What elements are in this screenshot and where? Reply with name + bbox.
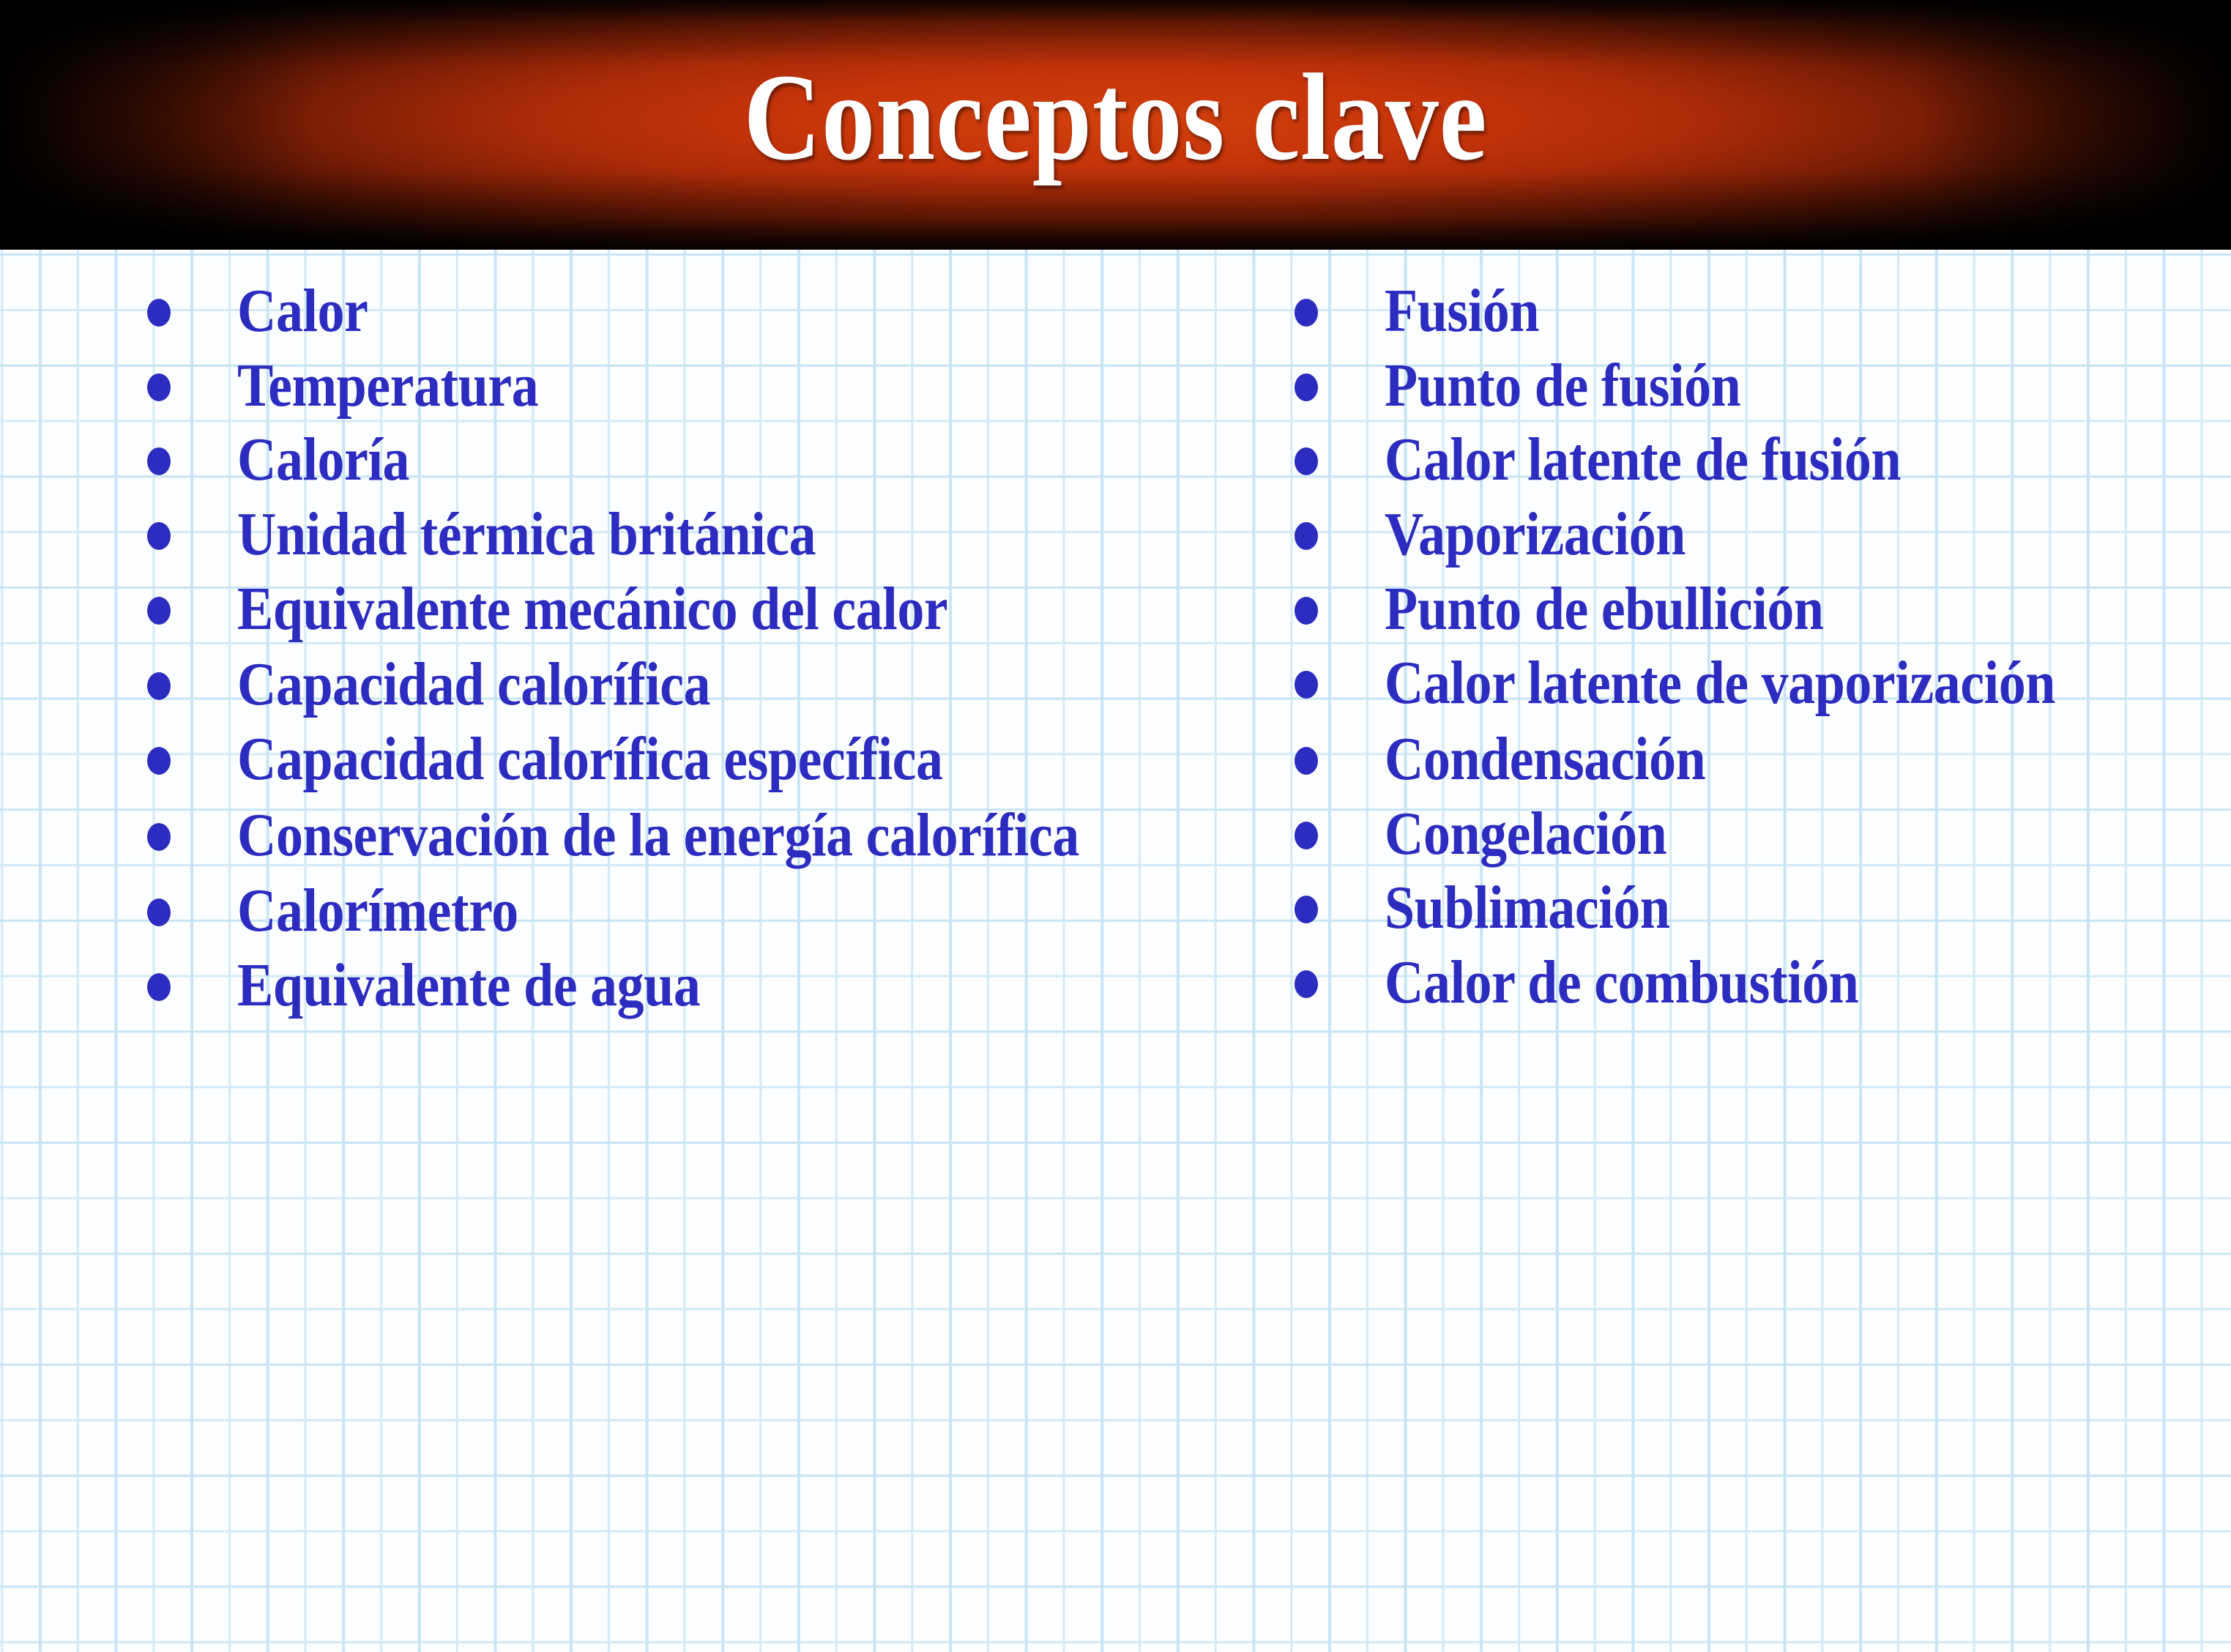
left-column: Calor Temperatura Caloría Unidad térmica…: [135, 250, 1256, 1029]
bullet-dot-icon: [147, 373, 171, 401]
list-item[interactable]: Calor latente de vaporización: [1283, 652, 2227, 715]
page-title: Conceptos clave: [156, 0, 2074, 250]
list-item[interactable]: Fusión: [1283, 280, 2227, 343]
list-item[interactable]: Conservación de la energía calorífica: [135, 804, 1256, 867]
list-item[interactable]: Capacidad calorífica: [135, 653, 1256, 716]
list-item[interactable]: Equivalente mecánico del calor: [135, 578, 1256, 641]
bullet-dot-icon: [1295, 522, 1318, 550]
list-item-label: Unidad térmica británica: [237, 503, 1256, 566]
bullet-dot-icon: [1295, 597, 1318, 625]
list-item[interactable]: Sublimación: [1283, 877, 2227, 940]
list-item-label: Condensación: [1385, 728, 2227, 791]
list-item-label: Calor latente de vaporización: [1385, 652, 2227, 715]
bullet-dot-icon: [1295, 299, 1318, 327]
list-item[interactable]: Calor latente de fusión: [1283, 428, 2227, 491]
bullet-dot-icon: [1295, 970, 1318, 998]
list-item-label: Sublimación: [1385, 877, 2227, 940]
list-item-label: Calor de combustión: [1385, 951, 2227, 1014]
bullet-dot-icon: [1295, 373, 1318, 401]
list-item[interactable]: Caloría: [135, 428, 1256, 491]
bullet-dot-icon: [147, 672, 171, 700]
list-item-label: Punto de fusión: [1385, 354, 2227, 417]
list-item[interactable]: Condensación: [1283, 728, 2227, 791]
content-area: Calor Temperatura Caloría Unidad térmica…: [0, 250, 2231, 1652]
list-item[interactable]: Punto de ebullición: [1283, 578, 2227, 641]
list-item-label: Calor latente de fusión: [1385, 428, 2227, 491]
bullet-dot-icon: [1295, 447, 1318, 475]
list-item[interactable]: Vaporización: [1283, 503, 2227, 566]
bullet-dot-icon: [147, 597, 171, 625]
left-bullet-list: Calor Temperatura Caloría Unidad térmica…: [135, 250, 1256, 1017]
bullet-dot-icon: [147, 522, 171, 550]
bullet-dot-icon: [147, 898, 171, 926]
bullet-dot-icon: [147, 747, 171, 775]
bullet-dot-icon: [147, 973, 171, 1001]
right-column: Fusión Punto de fusión Calor latente de …: [1283, 250, 2227, 1026]
bullet-dot-icon: [1295, 822, 1318, 849]
list-item[interactable]: Equivalente de agua: [135, 954, 1256, 1017]
list-item-label: Vaporización: [1385, 503, 2227, 566]
list-item-label: Caloría: [237, 428, 1256, 491]
bullet-dot-icon: [1295, 671, 1318, 699]
list-item-label: Temperatura: [237, 354, 1256, 417]
list-item[interactable]: Punto de fusión: [1283, 354, 2227, 417]
list-item[interactable]: Temperatura: [135, 354, 1256, 417]
list-item-label: Capacidad calorífica específica: [237, 728, 1256, 791]
list-item-label: Calorímetro: [237, 879, 1256, 942]
bullet-dot-icon: [147, 447, 171, 475]
list-item-label: Conservación de la energía calorífica: [237, 804, 1256, 867]
list-item-label: Equivalente de agua: [237, 954, 1256, 1017]
right-bullet-list: Fusión Punto de fusión Calor latente de …: [1283, 250, 2227, 1014]
slide: Conceptos clave Calor Temperatura Calorí…: [0, 0, 2231, 1652]
list-item-label: Calor: [237, 280, 1256, 343]
bullet-dot-icon: [147, 299, 171, 327]
list-item[interactable]: Calor: [135, 280, 1256, 343]
bullet-dot-icon: [1295, 896, 1318, 923]
bullet-dot-icon: [147, 823, 171, 851]
list-item[interactable]: Calor de combustión: [1283, 951, 2227, 1014]
list-item[interactable]: Unidad térmica británica: [135, 503, 1256, 566]
list-item[interactable]: Congelación: [1283, 803, 2227, 866]
list-item-label: Congelación: [1385, 803, 2227, 866]
list-item-label: Equivalente mecánico del calor: [237, 578, 1256, 641]
list-item-label: Capacidad calorífica: [237, 653, 1256, 716]
list-item[interactable]: Calorímetro: [135, 879, 1256, 942]
list-item[interactable]: Capacidad calorífica específica: [135, 728, 1256, 791]
bullet-dot-icon: [1295, 747, 1318, 775]
list-item-label: Fusión: [1385, 280, 2227, 343]
list-item-label: Punto de ebullición: [1385, 578, 2227, 641]
